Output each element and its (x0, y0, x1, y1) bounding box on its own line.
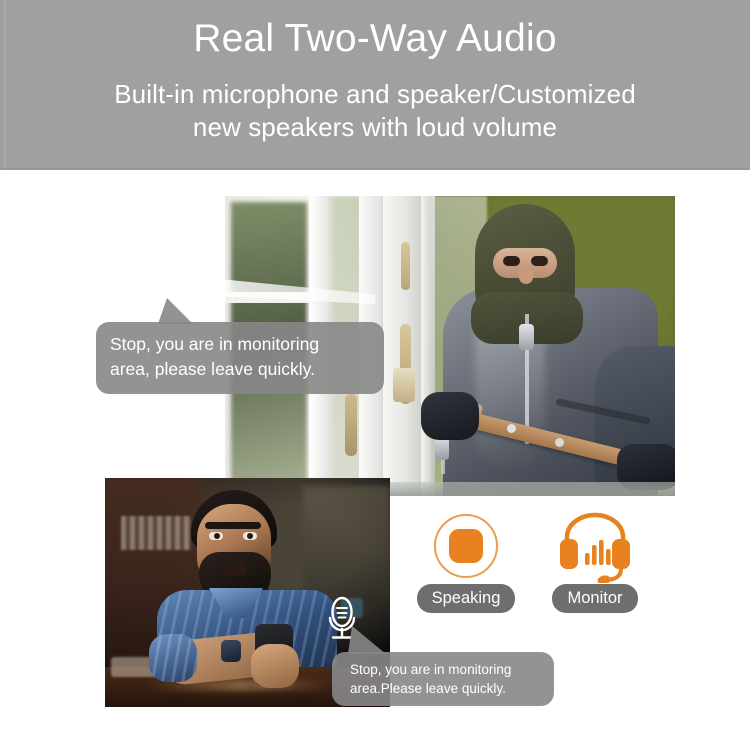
jacket-rivet-b (555, 438, 564, 447)
man-eyebrows (205, 522, 261, 529)
intruder-nose (519, 266, 533, 284)
jacket-zipper-pull (519, 324, 534, 350)
page-title: Real Two-Way Audio (0, 14, 750, 64)
speaking-button-icon[interactable] (430, 510, 502, 582)
intruder-glove-left (421, 392, 479, 440)
door-lock-plate (393, 368, 415, 402)
monitor-label: Monitor (552, 584, 637, 613)
bubble-text: Stop, you are in monitoring area.Please … (350, 660, 542, 698)
man-pupil-right (247, 533, 253, 539)
marketing-banner: Real Two-Way Audio Built-in microphone a… (0, 0, 750, 750)
header-band: Real Two-Way Audio Built-in microphone a… (0, 0, 750, 170)
background-window (303, 486, 390, 606)
speech-bubble-app-warning: Stop, you are in monitoring area.Please … (332, 652, 554, 706)
headset-monitor-icon[interactable] (552, 509, 638, 583)
monitor-icon-wrap (536, 508, 654, 584)
door-handle-lower (345, 394, 357, 456)
wristwatch (221, 640, 241, 662)
bubble-tail (158, 298, 193, 324)
door-hardware-top (401, 242, 410, 290)
feature-speaking[interactable]: Speaking (414, 508, 518, 613)
feature-monitor[interactable]: Monitor (536, 508, 654, 613)
man-mouth (223, 564, 247, 576)
jacket-rivet-a (507, 424, 516, 433)
intruder-eye-left (503, 256, 520, 266)
speaking-label: Speaking (417, 584, 516, 613)
page-subtitle: Built-in microphone and speaker/Customiz… (0, 78, 750, 144)
man-pupil-left (214, 533, 220, 539)
intruder-eye-right (531, 256, 548, 266)
bookshelf (121, 516, 191, 550)
bubble-text: Stop, you are in monitoring area, please… (110, 332, 370, 382)
bubble-tail (348, 626, 386, 654)
speech-bubble-outdoor-warning: Stop, you are in monitoring area, please… (96, 322, 384, 394)
speaking-icon-wrap (414, 508, 518, 584)
man-hand (251, 644, 299, 688)
shirt-sleeve (149, 634, 197, 682)
